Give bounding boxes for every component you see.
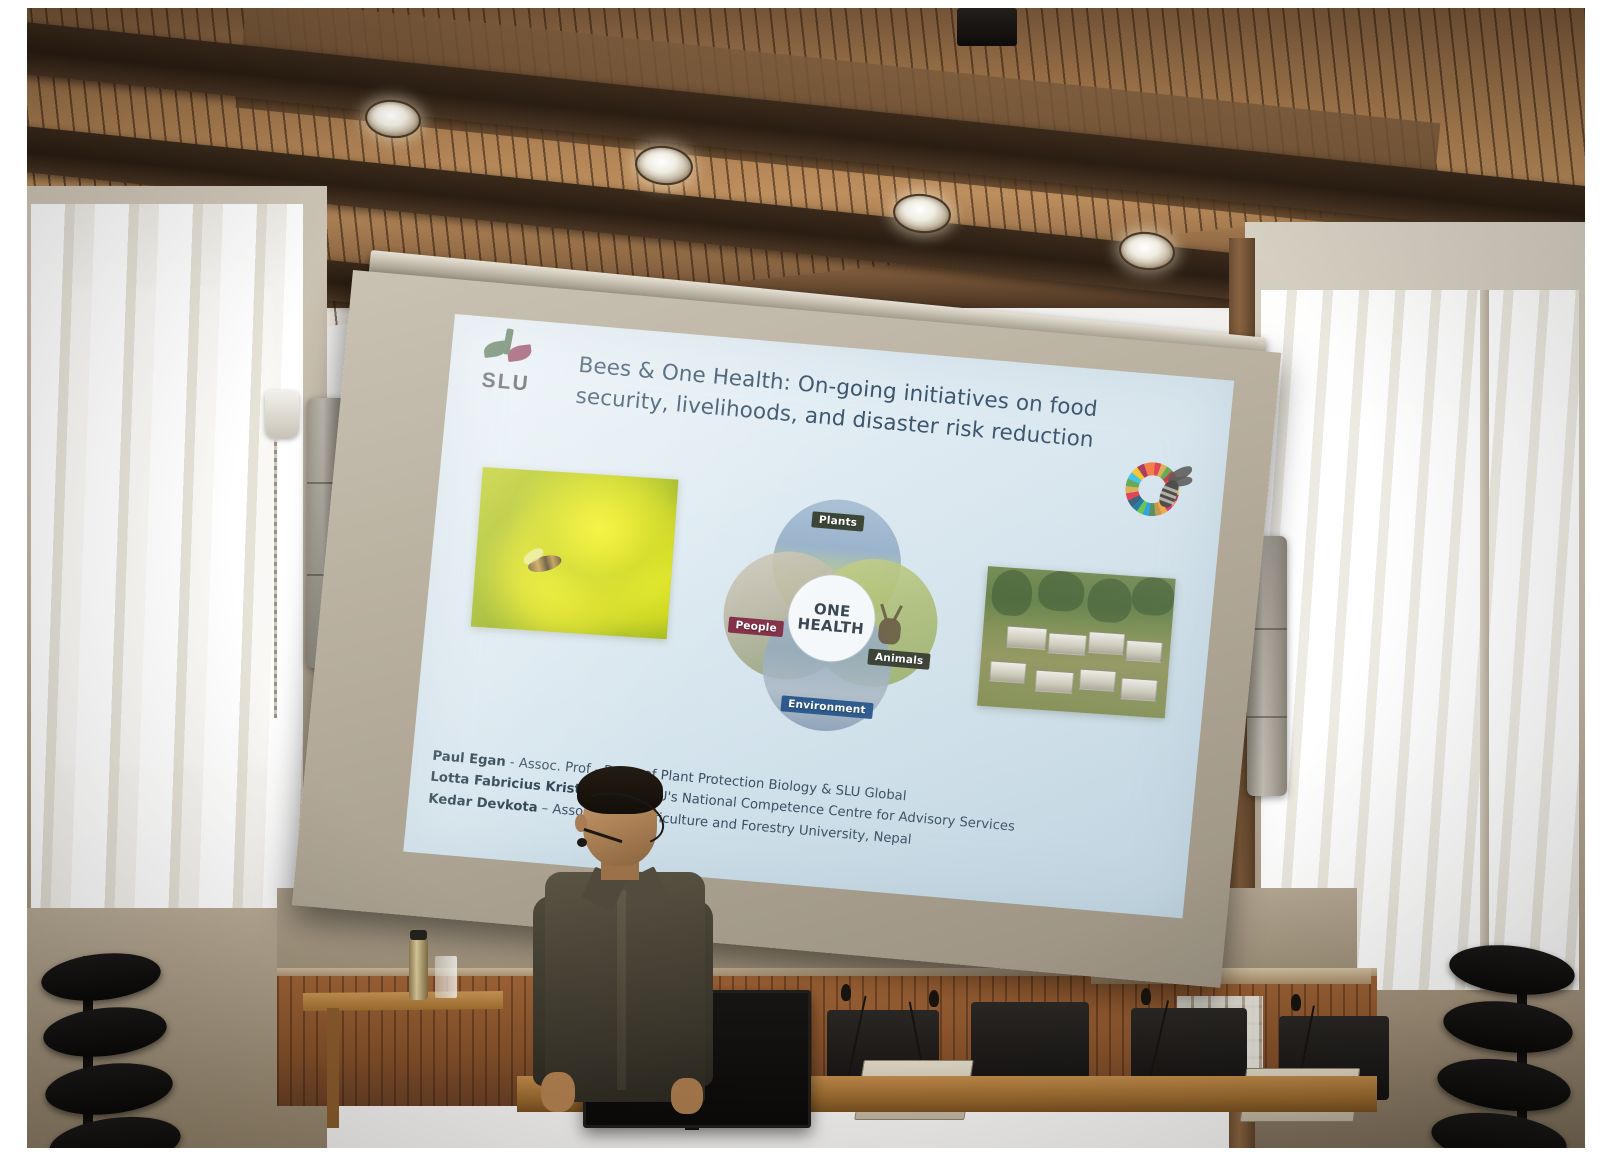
- bee-silhouette-icon: [1153, 467, 1197, 514]
- window-frame-right: [1480, 290, 1489, 990]
- microphone-head-3: [1141, 988, 1151, 1005]
- stacked-chairs-left: [27, 952, 237, 1148]
- one-health-venn-diagram: ONE HEALTH Plants People Animals Environ…: [713, 491, 948, 738]
- wall-fixture-left: [265, 390, 299, 438]
- venn-center-line2: HEALTH: [797, 614, 865, 638]
- ceiling-projector-mount: [957, 8, 1017, 46]
- honeybee-figure: [519, 552, 567, 577]
- conference-photograph: SLU Bees & One Health: On-going initiati…: [0, 0, 1607, 1158]
- photo-border-left: [0, 0, 27, 1158]
- deer-icon: [871, 599, 909, 648]
- blind-pull-chain[interactable]: [274, 438, 277, 718]
- stacked-chairs-right: [1365, 946, 1585, 1148]
- window-left: [31, 204, 303, 964]
- photo-border-right: [1585, 0, 1607, 1158]
- photo-border-bottom: [0, 1148, 1607, 1158]
- window-right: [1261, 290, 1579, 990]
- bottle-cap: [410, 930, 427, 940]
- shirt-placket: [617, 890, 626, 1090]
- microphone-head-4: [1291, 994, 1301, 1011]
- sdg-wheel-with-bee-icon: [1122, 456, 1202, 528]
- credit-name-1: Paul Egan: [432, 749, 507, 770]
- photo-border-top: [0, 0, 1607, 8]
- sheer-curtain-right: [1261, 290, 1579, 990]
- room-scene: SLU Bees & One Health: On-going initiati…: [27, 8, 1585, 1148]
- water-bottle: [409, 938, 428, 1000]
- slu-trefoil-icon: [482, 329, 536, 375]
- microphone-head-1: [841, 984, 851, 1001]
- slide-title: Bees & One Health: On-going initiatives …: [574, 351, 1138, 460]
- vertical-blinds-left: [31, 204, 303, 964]
- projection-screen-assembly: SLU Bees & One Health: On-going initiati…: [327, 256, 1287, 936]
- slide-image-bee-on-flower: [471, 467, 679, 639]
- side-table-leg: [327, 1008, 339, 1128]
- venn-center-label: ONE HEALTH: [797, 599, 867, 637]
- slide-image-apiary: [977, 566, 1176, 718]
- slu-logo-text: SLU: [476, 368, 536, 397]
- presenter-hand-right: [671, 1078, 703, 1114]
- microphone-head-2: [929, 990, 939, 1007]
- drinking-glass: [435, 956, 457, 998]
- presenter: [525, 760, 725, 1148]
- presenter-hand-left: [541, 1072, 575, 1112]
- headset-microphone-icon: [577, 838, 587, 847]
- slu-logo: SLU: [467, 328, 546, 408]
